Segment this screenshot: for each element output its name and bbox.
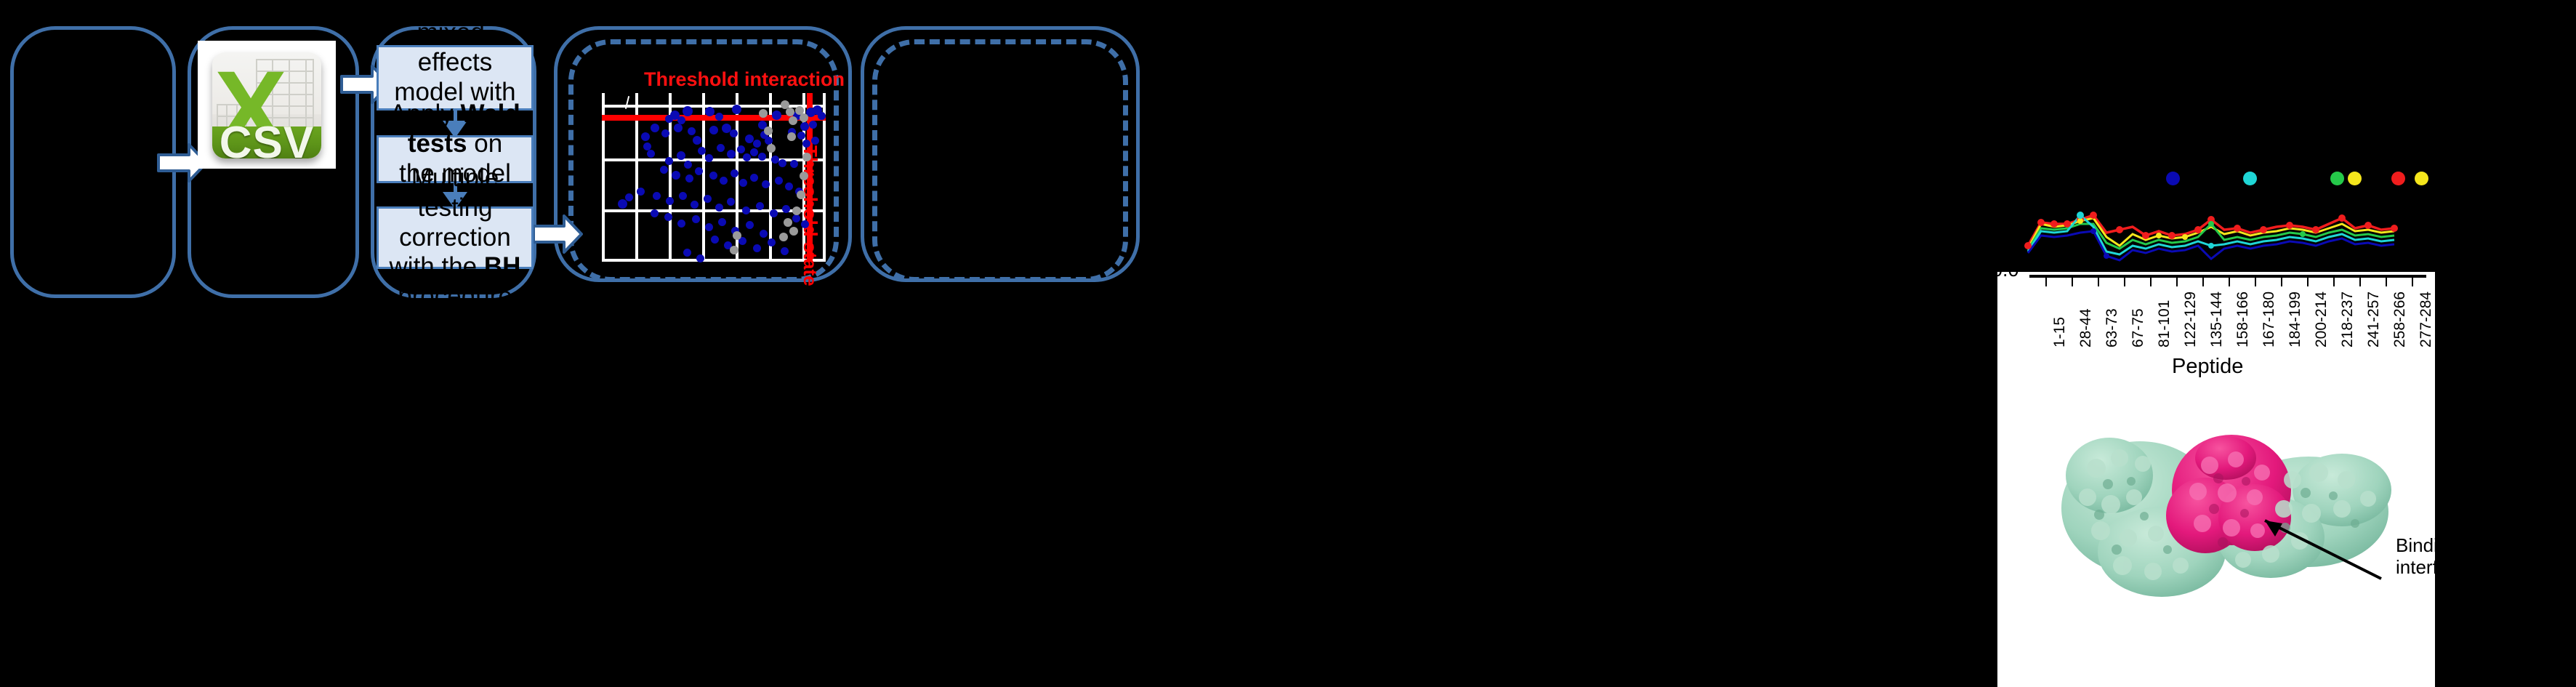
csv-icon-band: CSV: [212, 126, 321, 158]
peptide-tick-label: 241-257: [2365, 292, 2383, 347]
legend-dot-red: [2391, 172, 2405, 185]
figure-x-axis: [2029, 275, 2426, 278]
peptide-tick-label: 277-284: [2418, 292, 2435, 347]
csv-icon-plate: X CSV: [212, 52, 321, 158]
protein-structure-render: [2053, 388, 2394, 606]
scatter-vertical-label: Threshold state: [799, 145, 821, 286]
csv-file-icon: X CSV: [198, 41, 336, 169]
csv-icon-letter: X: [214, 55, 260, 105]
peptide-tick-label: 200-214: [2313, 292, 2330, 347]
results-panel-inner: [872, 39, 1128, 282]
legend-dot-cyan: [2243, 172, 2257, 185]
peptide-tick-label: 122-129: [2182, 292, 2199, 347]
peptide-tick-label: 258-266: [2391, 292, 2409, 347]
results-figure: 0.0 1-1528-4463-7367-7581-101122-129135-…: [1997, 272, 2435, 687]
input-panel: [10, 26, 176, 298]
arrow-to-results: [532, 214, 583, 254]
peptide-uptake-spectra: [1955, 138, 2413, 262]
workflow-diagram: X CSV Fit a linear mixed-effects model w…: [0, 0, 2576, 687]
peptide-tick-label: 158-166: [2234, 292, 2252, 347]
step-bh-text: Multiple testingcorrectionwith the BH pr…: [385, 164, 526, 313]
peptide-tick-label: 135-144: [2208, 292, 2226, 347]
scatter-title: Threshold interaction: [644, 68, 845, 91]
legend-dot-yellow: [2415, 172, 2428, 185]
binding-interface-annotation: Binding interface: [2396, 535, 2435, 579]
peptide-tick-label: 1-15: [2051, 317, 2069, 347]
peptide-tick-label: 28-44: [2077, 308, 2095, 347]
peptide-tick-label: 81-101: [2156, 300, 2173, 347]
peptide-tick-label: 67-75: [2130, 308, 2147, 347]
csv-icon-extension: CSV: [220, 117, 314, 158]
volcano-scatter-plot: Threshold interaction Threshold state: [581, 64, 840, 275]
legend-dot-yellow-2: [2348, 172, 2362, 185]
step-bh-box: Multiple testingcorrectionwith the BH pr…: [377, 206, 534, 269]
figure-x-axis-title: Peptide: [2172, 355, 2243, 379]
legend-dot-green: [2330, 172, 2344, 185]
legend-dot-navy: [2166, 172, 2180, 185]
peptide-tick-label: 167-180: [2261, 292, 2278, 347]
peptide-tick-label: 63-73: [2104, 308, 2121, 347]
peptide-tick-label: 184-199: [2287, 292, 2304, 347]
peptide-tick-label: 218-237: [2339, 292, 2356, 347]
figure-y-tick-label: 0.0: [1997, 272, 2019, 281]
